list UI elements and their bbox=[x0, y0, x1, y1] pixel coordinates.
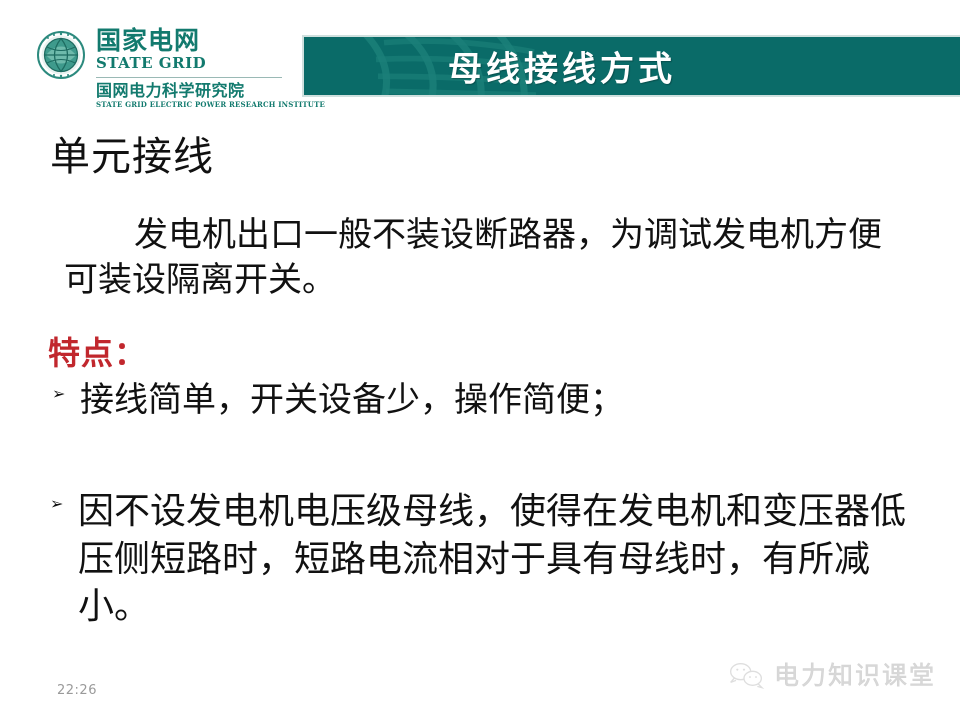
intro-paragraph: 发电机出口一般不装设断路器，为调试发电机方便可装设隔离开关。 bbox=[64, 213, 894, 303]
logo-company-cn: 国家电网 bbox=[96, 28, 325, 54]
watermark-label: 电力知识课堂 bbox=[774, 663, 936, 688]
logo-institute-cn: 国网电力科学研究院 bbox=[96, 82, 325, 100]
timestamp: 22:26 bbox=[57, 683, 97, 698]
state-grid-globe-logo-icon bbox=[36, 30, 86, 80]
logo-divider bbox=[96, 77, 282, 78]
slide-title: 母线接线方式 bbox=[304, 42, 960, 91]
list-item: ➢ 因不设发电机电压级母线，使得在发电机和变压器低压侧短路时，短路电流相对于具有… bbox=[50, 488, 930, 631]
section-heading: 单元接线 bbox=[50, 137, 214, 177]
logo-company-en: STATE GRID bbox=[96, 55, 325, 72]
arrow-bullet-icon: ➢ bbox=[52, 384, 80, 403]
arrow-bullet-icon: ➢ bbox=[50, 494, 78, 513]
list-item-label: 因不设发电机电压级母线，使得在发电机和变压器低压侧短路时，短路电流相对于具有母线… bbox=[78, 488, 930, 631]
slide-title-banner: 母线接线方式 bbox=[302, 35, 960, 97]
list-item: ➢ 接线简单，开关设备少，操作简便； bbox=[52, 378, 912, 423]
list-item-label: 接线简单，开关设备少，操作简便； bbox=[80, 378, 624, 423]
logo-text-block: 国家电网 STATE GRID 国网电力科学研究院 STATE GRID ELE… bbox=[96, 28, 325, 110]
slide-header: 国家电网 STATE GRID 国网电力科学研究院 STATE GRID ELE… bbox=[0, 0, 960, 120]
features-label: 特点： bbox=[48, 328, 147, 374]
watermark: 电力知识课堂 bbox=[726, 660, 936, 690]
logo-institute-en: STATE GRID ELECTRIC POWER RESEARCH INSTI… bbox=[96, 101, 325, 109]
state-grid-logo: 国家电网 STATE GRID 国网电力科学研究院 STATE GRID ELE… bbox=[36, 28, 325, 110]
wechat-bubble-icon bbox=[726, 660, 766, 690]
